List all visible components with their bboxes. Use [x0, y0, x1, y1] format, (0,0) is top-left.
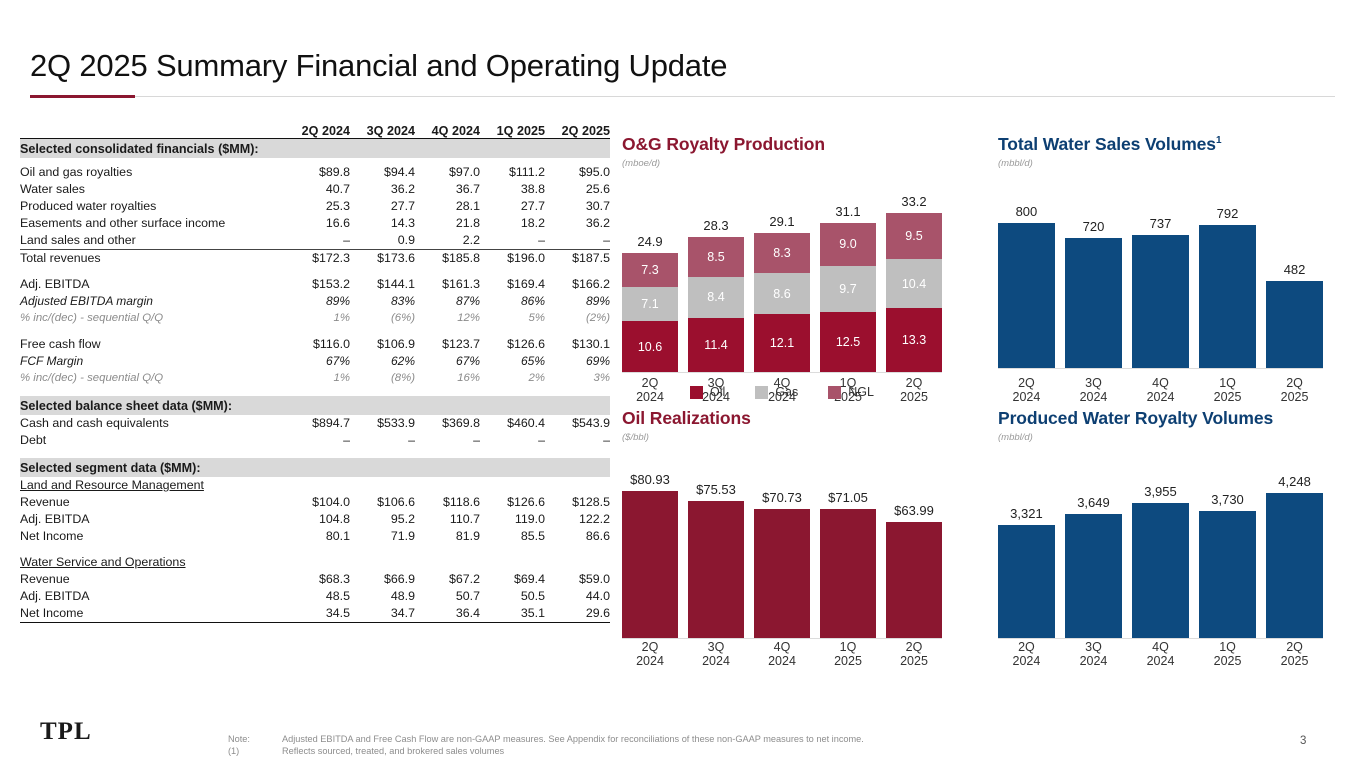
- table-row-label: Revenue: [20, 494, 285, 511]
- table-cell: $116.0: [285, 336, 350, 353]
- table-cell: 25.3: [285, 198, 350, 215]
- table-cell: 30.7: [545, 198, 610, 215]
- bar-column: 792: [1199, 206, 1256, 368]
- bar-column: $63.99: [886, 479, 942, 638]
- table-cell: $89.8: [285, 164, 350, 181]
- x-axis-tick-label: 2Q2024: [998, 640, 1055, 668]
- table-cell: $111.2: [480, 164, 545, 181]
- bar-value-label: 4,248: [1249, 474, 1340, 489]
- table-cell: –: [480, 232, 545, 250]
- table-cell: $69.4: [480, 571, 545, 588]
- table-row-label: Easements and other surface income: [20, 215, 285, 232]
- table-cell: $130.1: [545, 336, 610, 353]
- bar-segment-gas: 8.4: [688, 277, 744, 317]
- table-cell: $118.6: [415, 494, 480, 511]
- table-cell: $153.2: [285, 276, 350, 293]
- table-cell: 85.5: [480, 528, 545, 545]
- bar-segment-gas: 9.7: [820, 266, 876, 312]
- table-subsection-label: Water Service and Operations: [20, 554, 285, 571]
- x-axis-tick-label: 3Q2024: [1065, 640, 1122, 668]
- table-column-header: 1Q 2025: [480, 124, 545, 139]
- bar-column: $80.93: [622, 479, 678, 638]
- table-cell: 25.6: [545, 181, 610, 198]
- x-axis-tick-label: 2Q2024: [998, 376, 1055, 404]
- table-cell: 110.7: [415, 511, 480, 528]
- table-cell: 50.5: [480, 588, 545, 605]
- table-cell: $144.1: [350, 276, 415, 293]
- axis-baseline: [622, 372, 942, 373]
- bar-total-label: 33.2: [875, 194, 953, 209]
- table-cell: 21.8: [415, 215, 480, 232]
- table-row: % inc/(dec) - sequential Q/Q1%(8%)16%2%3…: [20, 370, 610, 387]
- chart-title: Produced Water Royalty Volumes: [998, 408, 1323, 429]
- table-row-label: Total revenues: [20, 250, 285, 268]
- table-cell: 34.5: [285, 605, 350, 623]
- x-axis-tick-label: 4Q2024: [1132, 376, 1189, 404]
- table-cell: –: [480, 432, 545, 449]
- bar: [754, 509, 810, 638]
- x-axis-tick-label: 2Q2024: [622, 640, 678, 668]
- table-cell: –: [285, 432, 350, 449]
- table-cell: 38.8: [480, 181, 545, 198]
- x-axis-tick-label: 1Q2025: [1199, 640, 1256, 668]
- table-cell: 71.9: [350, 528, 415, 545]
- table-cell: 89%: [545, 293, 610, 310]
- bar-column: 3,649: [1065, 479, 1122, 638]
- table-cell: 14.3: [350, 215, 415, 232]
- x-axis-tick-label: 1Q2025: [1199, 376, 1256, 404]
- table-cell: $166.2: [545, 276, 610, 293]
- bar-segment-oil: 13.3: [886, 308, 942, 372]
- table-row: Adj. EBITDA104.895.2110.7119.0122.2: [20, 511, 610, 528]
- tpl-logo: TPL: [40, 718, 92, 746]
- table-cell: $67.2: [415, 571, 480, 588]
- bar: [1132, 235, 1189, 368]
- bar: [886, 522, 942, 638]
- financial-summary-table: 2Q 20243Q 20244Q 20241Q 20252Q 2025Selec…: [20, 124, 610, 623]
- table-row: Net Income80.171.981.985.586.6: [20, 528, 610, 545]
- chart-units: (mbbl/d): [998, 158, 1323, 169]
- footnote-text: Adjusted EBITDA and Free Cash Flow are n…: [282, 734, 864, 746]
- legend-swatch-gas: [755, 386, 768, 399]
- x-axis-tick-label: 1Q2025: [820, 640, 876, 668]
- bar: [820, 509, 876, 638]
- table-row-label: Adj. EBITDA: [20, 511, 285, 528]
- table-row: FCF Margin67%62%67%65%69%: [20, 353, 610, 370]
- chart-title: O&G Royalty Production: [622, 134, 942, 155]
- bar: [1199, 225, 1256, 368]
- x-axis-tick-label: 4Q2024: [1132, 640, 1189, 668]
- bar-column: $71.05: [820, 479, 876, 638]
- table-row: Debt–––––: [20, 432, 610, 449]
- section-header-label: Selected balance sheet data ($MM):: [20, 396, 285, 415]
- table-cell: $128.5: [545, 494, 610, 511]
- table-row-label: Adj. EBITDA: [20, 276, 285, 293]
- table-cell: –: [350, 432, 415, 449]
- bar-column: 482: [1266, 206, 1323, 368]
- bar-segment-ngl: 9.5: [886, 213, 942, 258]
- table-cell: $460.4: [480, 415, 545, 432]
- bar-column: 800: [998, 206, 1055, 368]
- table-cell: 80.1: [285, 528, 350, 545]
- section-header-label: Selected segment data ($MM):: [20, 458, 285, 477]
- bar: [1199, 511, 1256, 638]
- table-cell: 87%: [415, 293, 480, 310]
- table-row: Revenue$68.3$66.9$67.2$69.4$59.0: [20, 571, 610, 588]
- table-row: Total revenues$172.3$173.6$185.8$196.0$1…: [20, 250, 610, 268]
- table-row: Revenue$104.0$106.6$118.6$126.6$128.5: [20, 494, 610, 511]
- table-cell: $185.8: [415, 250, 480, 268]
- table-subsection: Water Service and Operations: [20, 554, 610, 571]
- table-row: Produced water royalties25.327.728.127.7…: [20, 198, 610, 215]
- table-row: Free cash flow$116.0$106.9$123.7$126.6$1…: [20, 336, 610, 353]
- table-cell: $369.8: [415, 415, 480, 432]
- table-cell: $894.7: [285, 415, 350, 432]
- table-cell: 12%: [415, 310, 480, 327]
- table-cell: $172.3: [285, 250, 350, 268]
- table-column-header: 4Q 2024: [415, 124, 480, 139]
- bar-column: 737: [1132, 206, 1189, 368]
- x-axis-tick-label: 2Q2025: [886, 640, 942, 668]
- table-cell: $161.3: [415, 276, 480, 293]
- bar-segment-ngl: 9.0: [820, 223, 876, 266]
- table-cell: 86.6: [545, 528, 610, 545]
- table-cell: 67%: [415, 353, 480, 370]
- bar-segment-oil: 11.4: [688, 318, 744, 372]
- table-cell: 36.4: [415, 605, 480, 623]
- bar-segment-oil: 12.1: [754, 314, 810, 372]
- stacked-bar-column: 29.18.38.612.1: [754, 201, 810, 372]
- x-axis-tick-label: 2Q2025: [1266, 376, 1323, 404]
- table-cell: 36.2: [350, 181, 415, 198]
- table-cell: $169.4: [480, 276, 545, 293]
- table-cell: 27.7: [480, 198, 545, 215]
- table-cell: 86%: [480, 293, 545, 310]
- chart-title: Total Water Sales Volumes1: [998, 134, 1323, 155]
- bar: [1132, 503, 1189, 638]
- table-row-label: % inc/(dec) - sequential Q/Q: [20, 310, 285, 327]
- table-row-label: Net Income: [20, 528, 285, 545]
- table-row: Oil and gas royalties$89.8$94.4$97.0$111…: [20, 164, 610, 181]
- footnote-key: (1): [228, 746, 282, 758]
- table-cell: 27.7: [350, 198, 415, 215]
- axis-baseline: [998, 638, 1323, 639]
- table-cell: $95.0: [545, 164, 610, 181]
- table-cell: 65%: [480, 353, 545, 370]
- table-cell: $543.9: [545, 415, 610, 432]
- legend-swatch-oil: [690, 386, 703, 399]
- bar-segment-ngl: 8.5: [688, 237, 744, 278]
- table-cell: 35.1: [480, 605, 545, 623]
- table-cell: –: [545, 432, 610, 449]
- bar-column: 3,955: [1132, 479, 1189, 638]
- table-cell: $196.0: [480, 250, 545, 268]
- table-cell: $123.7: [415, 336, 480, 353]
- bar-segment-oil: 12.5: [820, 312, 876, 372]
- table-row-label: Revenue: [20, 571, 285, 588]
- table-cell: (8%): [350, 370, 415, 387]
- table-cell: 119.0: [480, 511, 545, 528]
- table-cell: 69%: [545, 353, 610, 370]
- bar-column: $75.53: [688, 479, 744, 638]
- bar-segment-gas: 7.1: [622, 287, 678, 321]
- legend-item-ngl: NGL: [828, 385, 874, 399]
- stacked-bar-column: 31.19.09.712.5: [820, 201, 876, 372]
- stacked-bar: 9.09.712.5: [820, 223, 876, 372]
- bar-segment-ngl: 7.3: [622, 253, 678, 288]
- table-row: Adj. EBITDA$153.2$144.1$161.3$169.4$166.…: [20, 276, 610, 293]
- stacked-bar-column: 24.97.37.110.6: [622, 201, 678, 372]
- table-row-label: Water sales: [20, 181, 285, 198]
- table-row-label: FCF Margin: [20, 353, 285, 370]
- table-cell: $126.6: [480, 336, 545, 353]
- table-row-label: Net Income: [20, 605, 285, 623]
- table-cell: 81.9: [415, 528, 480, 545]
- table-cell: 104.8: [285, 511, 350, 528]
- table-cell: (2%): [545, 310, 610, 327]
- table-row: Land sales and other–0.92.2––: [20, 232, 610, 250]
- bar: [1266, 493, 1323, 638]
- table-cell: 83%: [350, 293, 415, 310]
- bar-column: 4,248: [1266, 479, 1323, 638]
- table-column-header: 3Q 2024: [350, 124, 415, 139]
- table-row: Adj. EBITDA48.548.950.750.544.0: [20, 588, 610, 605]
- bar-segment-gas: 8.6: [754, 273, 810, 314]
- legend-label: NGL: [848, 385, 874, 399]
- footnote-text: Reflects sourced, treated, and brokered …: [282, 746, 504, 758]
- table-corner: [20, 124, 285, 139]
- table-cell: 95.2: [350, 511, 415, 528]
- footnote-row: (1)Reflects sourced, treated, and broker…: [228, 746, 864, 758]
- table-row-label: Oil and gas royalties: [20, 164, 285, 181]
- table-cell: –: [415, 432, 480, 449]
- table-cell: $68.3: [285, 571, 350, 588]
- table-row-label: Adjusted EBITDA margin: [20, 293, 285, 310]
- axis-baseline: [622, 638, 942, 639]
- table-row: Cash and cash equivalents$894.7$533.9$36…: [20, 415, 610, 432]
- table-cell: 34.7: [350, 605, 415, 623]
- table-column-header: 2Q 2024: [285, 124, 350, 139]
- table-cell: 0.9: [350, 232, 415, 250]
- table-cell: $106.9: [350, 336, 415, 353]
- table-subsection: Land and Resource Management: [20, 477, 610, 494]
- bar-column: 720: [1065, 206, 1122, 368]
- table-cell: $97.0: [415, 164, 480, 181]
- table-cell: $94.4: [350, 164, 415, 181]
- table-cell: 44.0: [545, 588, 610, 605]
- table-row: Adjusted EBITDA margin89%83%87%86%89%: [20, 293, 610, 310]
- table-cell: –: [545, 232, 610, 250]
- legend-label: Gas: [775, 385, 798, 399]
- bar-value-label: 792: [1182, 206, 1273, 221]
- section-header-label: Selected consolidated financials ($MM):: [20, 139, 285, 158]
- axis-baseline: [998, 368, 1323, 369]
- bar: [1266, 281, 1323, 368]
- footnote-row: Note:Adjusted EBITDA and Free Cash Flow …: [228, 734, 864, 746]
- table-row-label: Produced water royalties: [20, 198, 285, 215]
- table-cell: $59.0: [545, 571, 610, 588]
- table-row-label: Adj. EBITDA: [20, 588, 285, 605]
- bar: [998, 525, 1055, 638]
- bar-value-label: $63.99: [869, 503, 959, 518]
- title-accent-bar: [30, 95, 135, 98]
- table-cell: 29.6: [545, 605, 610, 623]
- table-row-label: Land sales and other: [20, 232, 285, 250]
- table-row-label: Free cash flow: [20, 336, 285, 353]
- title-divider: [30, 96, 1335, 97]
- table-header-row: 2Q 20243Q 20244Q 20241Q 20252Q 2025: [20, 124, 610, 139]
- bar-segment-ngl: 8.3: [754, 233, 810, 273]
- table-cell: 122.2: [545, 511, 610, 528]
- table-cell: 1%: [285, 310, 350, 327]
- table-row: Water sales40.736.236.738.825.6: [20, 181, 610, 198]
- table-cell: 67%: [285, 353, 350, 370]
- x-axis-tick-label: 4Q2024: [754, 640, 810, 668]
- x-axis-tick-label: 3Q2024: [1065, 376, 1122, 404]
- table-cell: $173.6: [350, 250, 415, 268]
- footnote-marker: 1: [1216, 135, 1221, 146]
- legend-item-gas: Gas: [755, 385, 798, 399]
- table-cell: $66.9: [350, 571, 415, 588]
- table-row: % inc/(dec) - sequential Q/Q1%(6%)12%5%(…: [20, 310, 610, 327]
- chart-units: (mbbl/d): [998, 432, 1323, 443]
- legend-label: Oil: [710, 385, 725, 399]
- table-cell: $104.0: [285, 494, 350, 511]
- table-cell: 28.1: [415, 198, 480, 215]
- table-row-label: Debt: [20, 432, 285, 449]
- table-cell: 40.7: [285, 181, 350, 198]
- bar-column: 3,730: [1199, 479, 1256, 638]
- table-cell: 62%: [350, 353, 415, 370]
- table-cell: $187.5: [545, 250, 610, 268]
- stacked-bar: 9.510.413.3: [886, 213, 942, 372]
- bar-segment-oil: 10.6: [622, 321, 678, 372]
- table-cell: (6%): [350, 310, 415, 327]
- bar-value-label: 3,730: [1182, 492, 1273, 507]
- legend-item-oil: Oil: [690, 385, 725, 399]
- table-cell: 2.2: [415, 232, 480, 250]
- table-cell: 16%: [415, 370, 480, 387]
- chart-og-royalty-production: O&G Royalty Production (mboe/d) 24.97.37…: [622, 134, 942, 373]
- table-section-band: Selected balance sheet data ($MM):: [20, 396, 610, 415]
- x-axis-tick-label: 3Q2024: [688, 640, 744, 668]
- table-cell: 89%: [285, 293, 350, 310]
- table-cell: $533.9: [350, 415, 415, 432]
- bar: [998, 223, 1055, 368]
- stacked-bar: 8.38.612.1: [754, 233, 810, 372]
- chart-units: (mboe/d): [622, 158, 942, 169]
- stacked-bar-column: 33.29.510.413.3: [886, 201, 942, 372]
- table-cell: 3%: [545, 370, 610, 387]
- chart-units: ($/bbl): [622, 432, 942, 443]
- x-axis-tick-label: 2Q2025: [1266, 640, 1323, 668]
- stacked-bar-column: 28.38.58.411.4: [688, 201, 744, 372]
- stacked-bar: 7.37.110.6: [622, 253, 678, 372]
- table-cell: 50.7: [415, 588, 480, 605]
- chart-legend: OilGasNGL: [622, 385, 942, 399]
- page-title: 2Q 2025 Summary Financial and Operating …: [30, 48, 727, 84]
- page-number: 3: [1300, 735, 1306, 747]
- bar: [1065, 238, 1122, 368]
- stacked-bar: 8.58.411.4: [688, 237, 744, 372]
- table-cell: 48.5: [285, 588, 350, 605]
- footnote-key: Note:: [228, 734, 282, 746]
- chart-total-water-sales-volumes: Total Water Sales Volumes1 (mbbl/d) 8007…: [998, 134, 1323, 369]
- table-row: Net Income34.534.736.435.129.6: [20, 605, 610, 623]
- table-cell: 5%: [480, 310, 545, 327]
- table-column-header: 2Q 2025: [545, 124, 610, 139]
- chart-title: Oil Realizations: [622, 408, 942, 429]
- chart-produced-water-royalty-volumes: Produced Water Royalty Volumes (mbbl/d) …: [998, 408, 1323, 639]
- table-cell: $106.6: [350, 494, 415, 511]
- bar-column: 3,321: [998, 479, 1055, 638]
- table-cell: 48.9: [350, 588, 415, 605]
- bar-segment-gas: 10.4: [886, 259, 942, 309]
- table-cell: $126.6: [480, 494, 545, 511]
- table-cell: 1%: [285, 370, 350, 387]
- table-row-label: % inc/(dec) - sequential Q/Q: [20, 370, 285, 387]
- table-section-band: Selected segment data ($MM):: [20, 458, 610, 477]
- bar: [688, 501, 744, 638]
- bar-value-label: 800: [981, 204, 1072, 219]
- table-bottom-rule: [20, 623, 610, 624]
- table-cell: 16.6: [285, 215, 350, 232]
- table-cell: 36.7: [415, 181, 480, 198]
- table-cell: 18.2: [480, 215, 545, 232]
- table-cell: 36.2: [545, 215, 610, 232]
- bar: [622, 491, 678, 638]
- bar-value-label: 482: [1249, 262, 1340, 277]
- table-cell: 2%: [480, 370, 545, 387]
- table-cell: –: [285, 232, 350, 250]
- bar-column: $70.73: [754, 479, 810, 638]
- legend-swatch-ngl: [828, 386, 841, 399]
- table-subsection-label: Land and Resource Management: [20, 477, 285, 494]
- table-row-label: Cash and cash equivalents: [20, 415, 285, 432]
- footnotes: Note:Adjusted EBITDA and Free Cash Flow …: [228, 734, 864, 757]
- table-section-band: Selected consolidated financials ($MM):: [20, 139, 610, 158]
- table-row: Easements and other surface income16.614…: [20, 215, 610, 232]
- bar: [1065, 514, 1122, 638]
- chart-oil-realizations: Oil Realizations ($/bbl) $80.93$75.53$70…: [622, 408, 942, 639]
- bar-total-label: 24.9: [611, 234, 689, 249]
